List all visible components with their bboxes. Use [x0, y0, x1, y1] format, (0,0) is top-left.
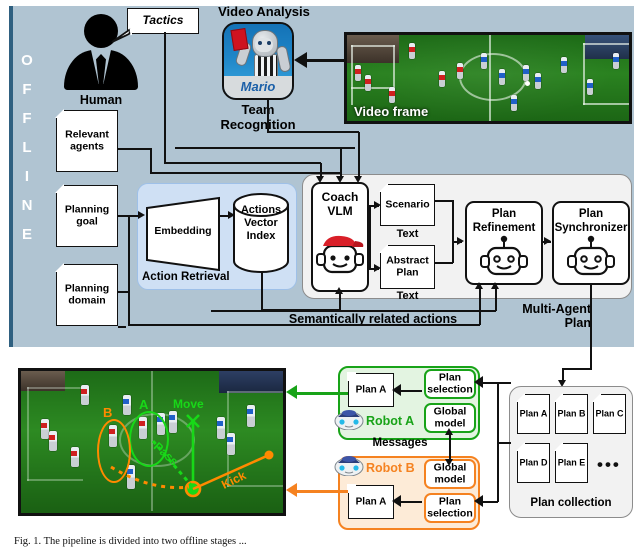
connector-videoframe-mario — [306, 59, 344, 62]
arrowhead — [316, 176, 324, 183]
connector-into-coach-1 — [320, 163, 322, 177]
connector-abstract-refinement — [435, 262, 453, 264]
video-frame-thumbnail: Video frame — [344, 32, 632, 124]
connector-abstract-refinement — [452, 241, 454, 263]
robot-player — [481, 53, 487, 69]
arrowhead — [392, 495, 401, 507]
robot-player — [409, 43, 415, 59]
connector-selection-plan-b — [398, 501, 422, 503]
mario-left-eye — [258, 41, 262, 45]
mario-face — [255, 38, 273, 52]
connector-plan-b-out — [322, 490, 348, 493]
connector-agents-coach — [118, 148, 152, 150]
plan-document: Plan E — [555, 443, 588, 483]
synchronizer-robot-face-icon — [567, 235, 615, 281]
pitch-line — [351, 45, 353, 105]
robot-a-plan-document: Plan A — [348, 373, 394, 407]
arrowhead — [374, 264, 381, 272]
arrowhead — [457, 237, 464, 245]
robot-player — [365, 75, 371, 91]
crowd-region — [347, 35, 399, 63]
robot-player — [523, 65, 529, 81]
connector-domain-refinement — [118, 291, 129, 293]
speech-bubble-tail — [110, 28, 132, 44]
connector-coach-docs — [369, 205, 371, 269]
connector-goal-refinement — [128, 324, 480, 326]
plan-document: Plan B — [555, 394, 588, 434]
robot-player — [535, 73, 541, 89]
arrowhead — [445, 459, 453, 466]
team-recognition-label: Team Recognition — [200, 102, 316, 132]
pitch-line — [583, 103, 629, 105]
pitch-line — [583, 43, 585, 105]
mario-app-name: Mario — [224, 76, 292, 98]
arrowhead — [336, 176, 344, 183]
video-analysis-title: Video Analysis — [196, 4, 332, 19]
document-abstract-plan: AbstractPlan — [380, 245, 435, 289]
arrowhead — [335, 287, 343, 294]
messages-label: Messages — [360, 437, 440, 449]
arrowhead — [286, 483, 297, 497]
robot-b-plan-document: Plan A — [348, 485, 394, 519]
crowd-region — [585, 35, 631, 59]
robot-player — [389, 87, 395, 103]
coach-vlm-label: Coach VLM — [311, 190, 369, 218]
connector-recognition-bus — [175, 147, 355, 149]
robot-player — [499, 69, 505, 85]
arrowhead — [294, 52, 307, 68]
mario-right-eye — [267, 41, 271, 45]
connector-domain-bus — [118, 326, 126, 328]
action-retrieval-label: Action Retrieval — [142, 271, 272, 283]
arrowhead — [392, 384, 401, 396]
pitch-line — [583, 43, 629, 45]
robot-player — [561, 57, 567, 73]
ball — [525, 81, 530, 86]
connector-into-coach-3 — [358, 132, 360, 177]
connector-messages — [449, 432, 451, 462]
plan-document: Plan C — [593, 394, 626, 434]
embedding-label: Embedding — [145, 225, 221, 237]
connector-scenario-refinement — [435, 200, 453, 202]
robot-a-head-icon — [334, 406, 360, 427]
connector-mario-coach — [267, 100, 269, 132]
connector-collection-selections — [497, 382, 511, 384]
connector-goal-refinement — [128, 215, 130, 325]
plan-refinement-label: Plan Refinement — [463, 208, 545, 235]
arrowhead — [491, 282, 499, 289]
document-planning-domain: Planningdomain — [56, 264, 118, 326]
robot-player — [457, 63, 463, 79]
arrowhead — [374, 201, 381, 209]
red-card-icon — [230, 28, 248, 51]
figure-caption: Fig. 1. The pipeline is divided into two… — [14, 536, 626, 547]
plan-document: Plan D — [517, 443, 550, 483]
robot-player — [511, 95, 517, 111]
human-label: Human — [58, 93, 144, 107]
arrowhead — [354, 176, 362, 183]
arrowhead — [138, 211, 145, 219]
robot-b-plan-selection[interactable]: Planselection — [424, 493, 476, 523]
connector-index-coach — [339, 292, 341, 310]
scenario-type-label: Text — [380, 228, 435, 240]
connector-plan-output — [562, 368, 592, 370]
document-relevant-agents: Relevantagents — [56, 110, 118, 172]
robot-player — [439, 71, 445, 87]
connector-index-coach — [261, 272, 263, 310]
connector-docs-refinement — [211, 310, 496, 312]
connector-scenario-refinement — [452, 200, 454, 242]
connector-collection-side — [497, 442, 511, 444]
connector-agents-coach — [150, 172, 341, 174]
arrowhead — [474, 495, 483, 507]
arrowhead — [544, 237, 551, 245]
arrowhead — [474, 376, 483, 388]
connector-agents-coach — [150, 148, 152, 173]
arrowhead — [475, 282, 483, 289]
arrowhead — [286, 385, 297, 399]
document-planning-goal: Planninggoal — [56, 185, 118, 247]
connector-selection-plan-a — [398, 390, 422, 392]
tactics-label: Tactics — [128, 13, 198, 27]
document-scenario: Scenario — [380, 184, 435, 226]
connector-plan-a-out — [322, 392, 348, 395]
arrowhead — [445, 428, 453, 435]
tactics-speech-bubble: Tactics — [127, 8, 199, 34]
robot-a-name: Robot A — [366, 414, 430, 428]
abstract-plan-type-label: Text — [380, 290, 435, 302]
robot-player — [355, 65, 361, 81]
robot-player — [587, 79, 593, 95]
robot-a-plan-selection[interactable]: Planselection — [424, 369, 476, 399]
pitch-center-circle — [459, 53, 527, 101]
coach-robot-face-icon — [315, 232, 365, 278]
move-action-label: Move — [173, 397, 204, 411]
connector-tactics-coach — [164, 32, 166, 162]
mario-app-icon[interactable]: Mario — [222, 22, 294, 100]
actions-vector-index-label: Actions Vector Index — [232, 204, 290, 243]
multi-agent-plan-label: Multi-Agent Plan — [495, 302, 591, 330]
annotated-field-image: A B Move Pass Kick — [18, 368, 286, 516]
refinement-robot-face-icon — [480, 235, 528, 281]
plan-synchronizer-label: Plan Synchronizer — [550, 208, 632, 235]
connector-tactics-coach — [164, 162, 321, 164]
plan-collection-more: ••• — [597, 455, 621, 475]
connector-mario-coach — [267, 131, 359, 133]
pitch-line — [393, 45, 395, 87]
robot-b-head-icon — [334, 452, 360, 473]
plan-collection-label: Plan collection — [509, 497, 633, 509]
arrowhead — [228, 211, 235, 219]
connector-plan-output — [590, 285, 592, 370]
video-frame-label: Video frame — [354, 104, 428, 119]
figure-canvas: OFFLINE Human Tactics Video Analysis Mar… — [0, 0, 640, 547]
plan-document: Plan A — [517, 394, 550, 434]
connector-goal-refinement — [479, 287, 481, 325]
pitch-line — [351, 45, 395, 47]
robot-player — [613, 53, 619, 69]
offline-stage-label: OFFLINE — [14, 46, 40, 276]
action-annotations — [21, 371, 286, 516]
robot-b-name: Robot B — [366, 461, 430, 475]
